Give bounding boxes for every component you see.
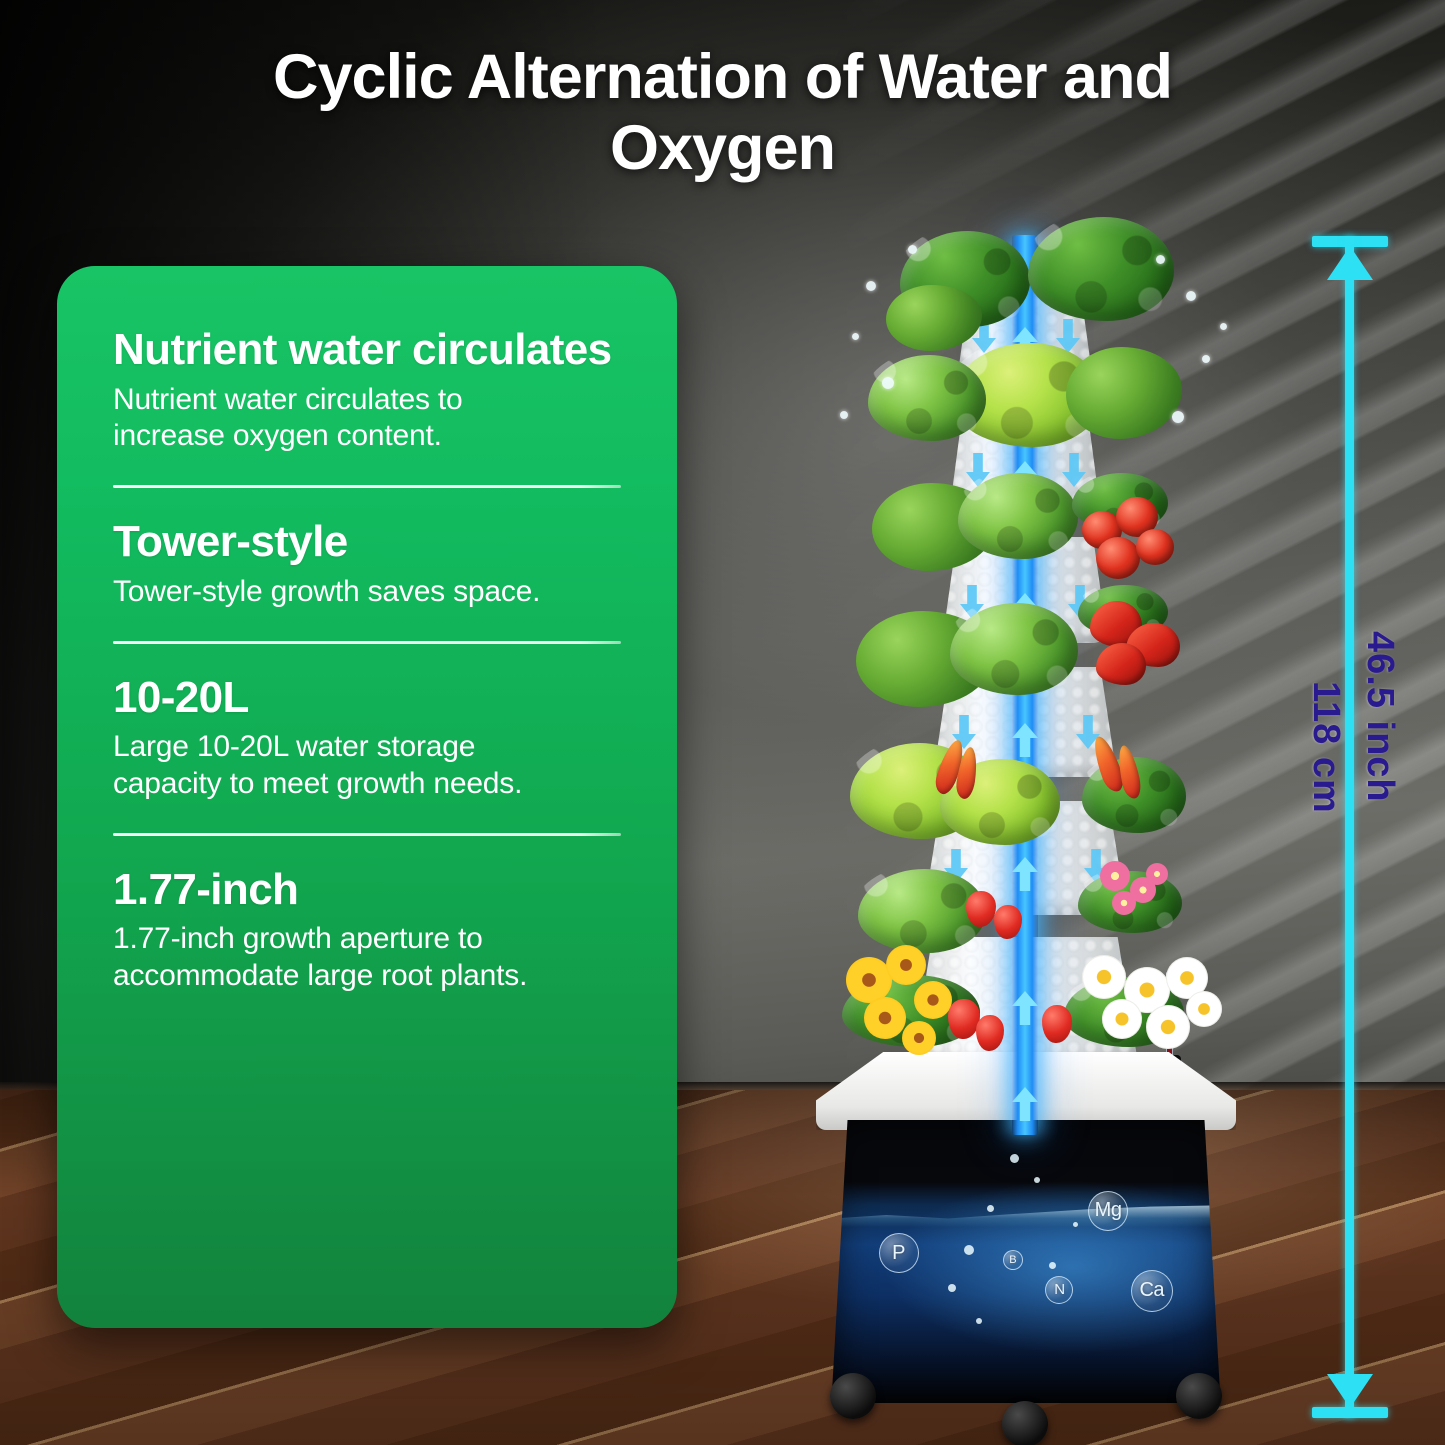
splash-droplet — [1073, 1222, 1078, 1227]
feature-heading: Tower-style — [113, 520, 621, 565]
water-droplet — [1220, 323, 1227, 330]
dimension-label-inches: 46.5 inch — [1358, 631, 1401, 803]
fruit-red-pepper — [1096, 643, 1146, 685]
feature-heading: Nutrient water circulates — [113, 328, 621, 373]
plant-basil — [1028, 217, 1174, 321]
flower-sunflower — [914, 981, 952, 1019]
flower-daisy — [1146, 1005, 1190, 1049]
feature-item-aperture: 1.77-inch 1.77-inch growth aperture to a… — [113, 868, 621, 995]
feature-card: Nutrient water circulates Nutrient water… — [57, 266, 677, 1328]
flower-daisy — [1186, 991, 1222, 1027]
feature-divider — [113, 833, 621, 836]
flower-sunflower — [886, 945, 926, 985]
water-droplet — [1156, 255, 1165, 264]
water-droplet — [1172, 411, 1184, 423]
water-surface — [832, 1205, 1220, 1227]
splash-droplet — [1049, 1262, 1056, 1269]
splash-droplet — [987, 1205, 994, 1212]
arrow-down-icon — [1327, 1374, 1373, 1408]
flower-pink — [1112, 891, 1136, 915]
splash-droplet — [976, 1318, 982, 1324]
fruit-tomato — [1136, 529, 1174, 565]
caster-wheel — [1002, 1401, 1048, 1445]
water-droplet — [882, 377, 894, 389]
nutrient-bubble-b: B — [1003, 1250, 1023, 1270]
hydroponic-tower-product: P Mg N Ca B — [790, 215, 1260, 1445]
reservoir-tank: P Mg N Ca B — [832, 1120, 1220, 1403]
arrow-up-icon — [1327, 246, 1373, 280]
plant-parsley-mid — [958, 473, 1078, 559]
nutrient-bubble-n: N — [1045, 1276, 1073, 1304]
plant-curly-herb — [1066, 347, 1182, 439]
plant-green-leaf — [868, 355, 986, 441]
fruit-tomato — [1096, 537, 1140, 579]
nutrient-bubble-p: P — [879, 1233, 919, 1273]
feature-heading: 10-20L — [113, 676, 621, 721]
title-line-1: Cyclic Alternation of Water and — [273, 42, 1172, 112]
caster-wheel — [830, 1373, 876, 1419]
dimension-line — [1345, 236, 1354, 1418]
water-droplet — [866, 281, 876, 291]
nutrient-bubble-ca: Ca — [1131, 1270, 1173, 1312]
feature-heading: 1.77-inch — [113, 868, 621, 913]
splash-droplet — [1034, 1177, 1040, 1183]
flower-sunflower — [902, 1021, 936, 1055]
dimension-label-centimeters: 118 cm — [1304, 681, 1347, 814]
flower-sunflower — [864, 997, 906, 1039]
splash-droplet — [948, 1284, 956, 1292]
water-droplet — [908, 245, 917, 254]
feature-description: Tower-style growth saves space. — [113, 574, 621, 611]
dimension-callout: 46.5 inch 118 cm — [1300, 236, 1420, 1418]
title-line-2: Oxygen — [0, 113, 1445, 184]
splash-droplet — [964, 1245, 974, 1255]
water-droplet — [840, 411, 848, 419]
caster-wheel — [1176, 1373, 1222, 1419]
water-droplet — [852, 333, 859, 340]
flower-daisy — [1102, 999, 1142, 1039]
page-title: Cyclic Alternation of Water and Oxygen — [0, 42, 1445, 184]
feature-item-nutrient-water: Nutrient water circulates Nutrient water… — [113, 328, 621, 488]
feature-divider — [113, 485, 621, 488]
water-droplet — [1202, 355, 1210, 363]
splash-droplet — [1010, 1154, 1019, 1163]
feature-item-tower-style: Tower-style Tower-style growth saves spa… — [113, 520, 621, 643]
feature-description: Nutrient water circulates to increase ox… — [113, 382, 621, 455]
plant-herb-center — [950, 603, 1078, 695]
feature-description: Large 10-20L water storage capacity to m… — [113, 729, 621, 802]
water-droplet — [1186, 291, 1196, 301]
feature-description: 1.77-inch growth aperture to accommodate… — [113, 921, 621, 994]
nutrient-bubble-mg: Mg — [1088, 1191, 1128, 1231]
flower-pink — [1100, 861, 1130, 891]
flower-pink — [1146, 863, 1168, 885]
flower-daisy — [1082, 955, 1126, 999]
feature-item-capacity: 10-20L Large 10-20L water storage capaci… — [113, 676, 621, 836]
feature-divider — [113, 641, 621, 644]
dimension-bottom-cap — [1312, 1407, 1388, 1418]
